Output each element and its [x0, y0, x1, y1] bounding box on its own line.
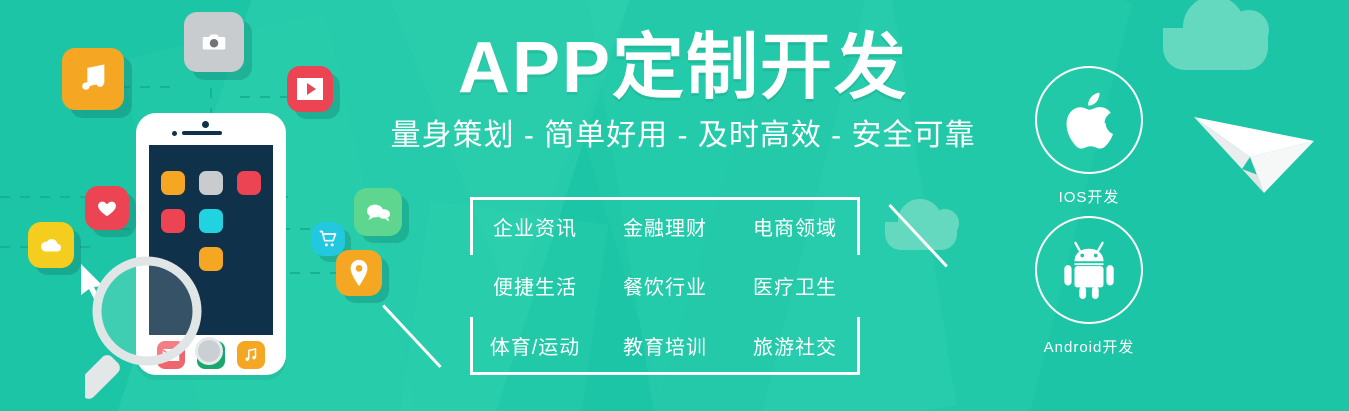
app-icon-gray [199, 171, 223, 195]
category-item[interactable]: 金融理财 [623, 212, 707, 241]
music-icon [62, 48, 124, 110]
app-icon-orange-1 [161, 171, 185, 195]
category-item[interactable]: 医疗卫生 [753, 271, 837, 300]
category-item[interactable]: 体育/运动 [490, 331, 581, 360]
category-item[interactable]: 便捷生活 [493, 271, 577, 300]
app-icon-red-1 [237, 171, 261, 195]
paper-plane-icon [1190, 95, 1320, 210]
page-title: APP定制开发 [383, 32, 983, 104]
speaker-grill [182, 131, 222, 135]
app-icon-red-2 [161, 209, 185, 233]
phone-illustration [0, 0, 400, 411]
camera-icon [184, 12, 244, 72]
location-icon [336, 250, 382, 296]
cloud-icon [1163, 28, 1268, 70]
cart-icon [311, 222, 345, 256]
category-item[interactable]: 餐饮行业 [623, 271, 707, 300]
category-frame: 企业资讯 金融理财 电商领域 便捷生活 餐饮行业 医疗卫生 体育/运动 教育培训… [470, 197, 860, 375]
heart-icon [85, 186, 129, 230]
android-icon [1060, 240, 1118, 300]
apple-icon [1063, 90, 1115, 150]
category-item[interactable]: 企业资讯 [493, 212, 577, 241]
app-icon-cyan [199, 209, 223, 233]
category-item[interactable]: 电商领域 [753, 212, 837, 241]
cloud-icon [28, 222, 74, 268]
sensor-icon [172, 131, 177, 136]
music-icon [237, 341, 265, 369]
category-item[interactable]: 旅游社交 [753, 331, 837, 360]
chat-icon [354, 188, 402, 236]
platform-label: Android开发 [1009, 336, 1169, 357]
video-icon [287, 66, 333, 112]
platform-android[interactable]: Android开发 [1009, 216, 1169, 357]
headline-block: APP定制开发 量身策划 - 简单好用 - 及时高效 - 安全可靠 [383, 32, 983, 154]
category-item[interactable]: 教育培训 [623, 331, 707, 360]
app-development-banner: APP定制开发 量身策划 - 简单好用 - 及时高效 - 安全可靠 企业资讯 金… [0, 0, 1349, 411]
category-grid: 企业资讯 金融理财 电商领域 便捷生活 餐饮行业 医疗卫生 体育/运动 教育培训… [470, 197, 860, 375]
page-subtitle: 量身策划 - 简单好用 - 及时高效 - 安全可靠 [383, 118, 983, 154]
magnifier-icon [85, 255, 205, 395]
android-ring [1035, 216, 1143, 324]
ios-ring [1035, 66, 1143, 174]
front-camera-icon [202, 121, 209, 128]
platform-ios[interactable]: IOS开发 [1009, 66, 1169, 207]
platform-label: IOS开发 [1009, 186, 1169, 207]
